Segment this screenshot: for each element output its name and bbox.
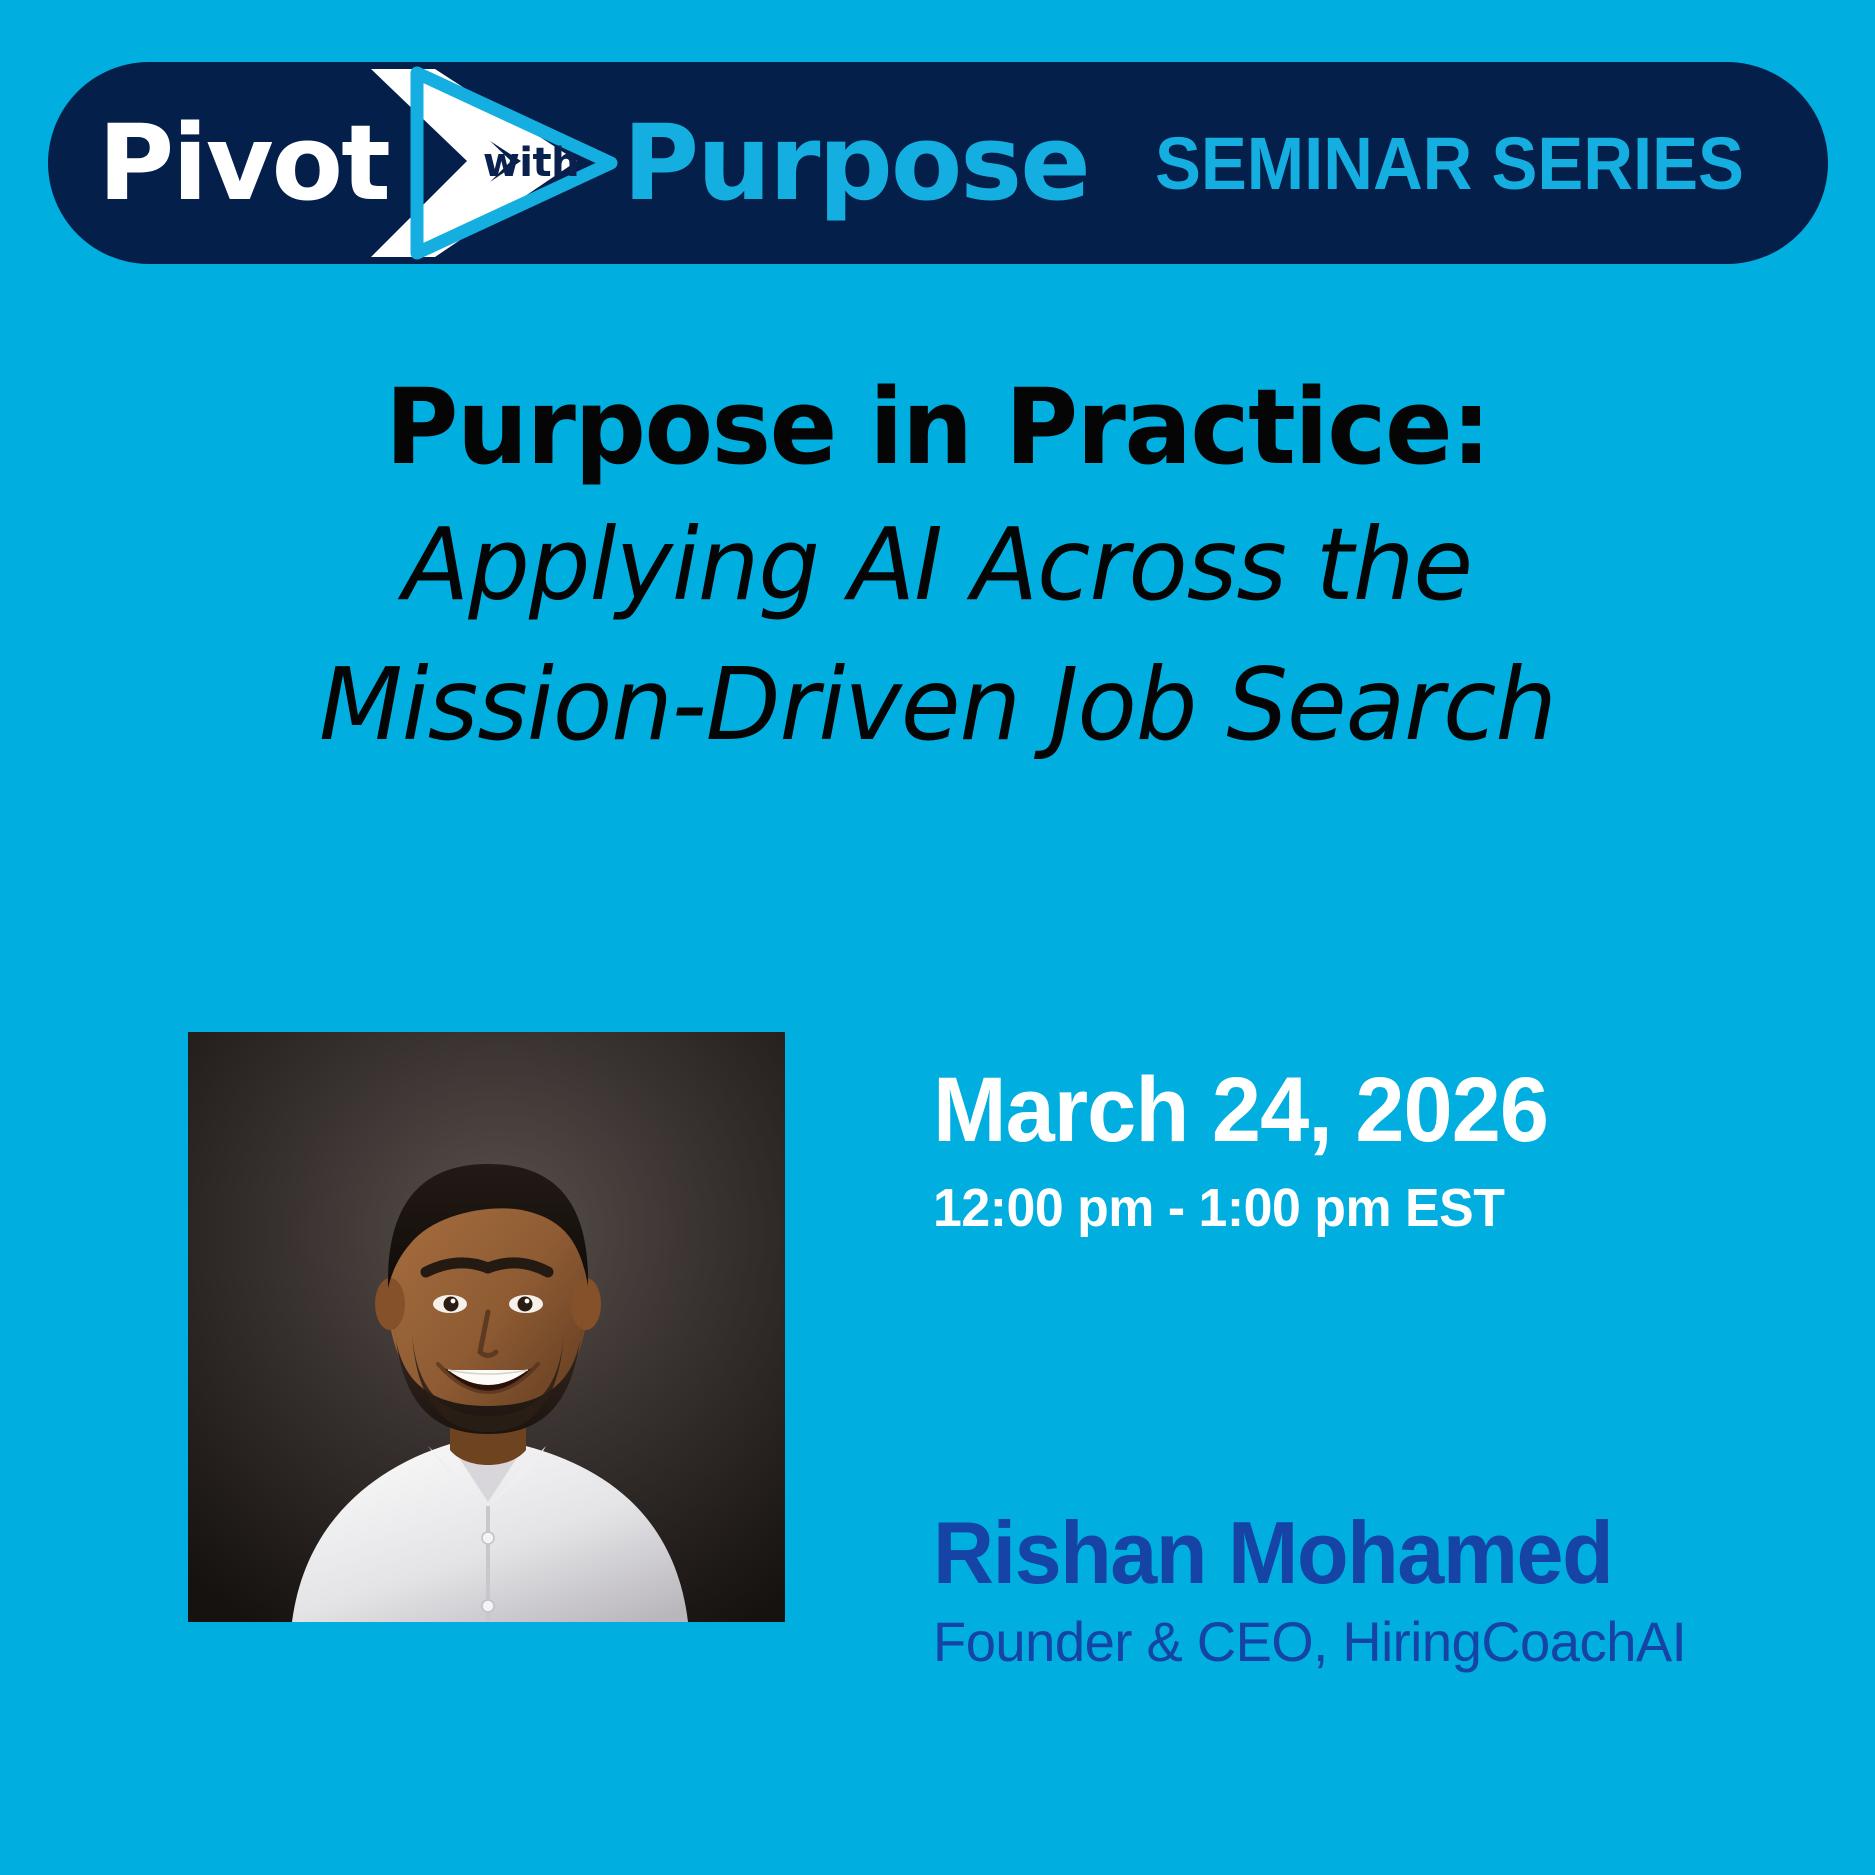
- event-title-block: Purpose in Practice: Applying AI Across …: [0, 360, 1875, 775]
- page-subtitle-line-2: Mission-Driven Job Search: [86, 635, 1788, 775]
- speaker-section: March 24, 2026 12:00 pm - 1:00 pm EST Ri…: [0, 1032, 1875, 1674]
- logo-word-pivot: Pivot: [98, 111, 389, 215]
- event-date: March 24, 2026: [933, 1062, 1679, 1159]
- logo-word-purpose: Purpose: [623, 111, 1089, 215]
- speaker-role: Founder & CEO, HiringCoachAI: [933, 1609, 1686, 1674]
- double-arrow-logo-icon: with: [371, 65, 629, 261]
- page-subtitle-line-1: Applying AI Across the: [86, 495, 1788, 635]
- event-details: March 24, 2026 12:00 pm - 1:00 pm EST Ri…: [933, 1032, 1710, 1674]
- seminar-series-label: SEMINAR SERIES: [1155, 121, 1744, 206]
- event-time: 12:00 pm - 1:00 pm EST: [933, 1177, 1679, 1239]
- page-title: Purpose in Practice:: [95, 360, 1780, 495]
- speaker-name: Rishan Mohamed: [933, 1507, 1679, 1599]
- logo-word-with: with: [483, 143, 579, 183]
- speaker-headshot: [188, 1032, 785, 1622]
- seminar-banner: Pivot with Purpose SEMINAR SERIES: [48, 62, 1828, 264]
- pivot-with-purpose-logo: Pivot with Purpose SEMINAR SERIES: [88, 62, 1788, 264]
